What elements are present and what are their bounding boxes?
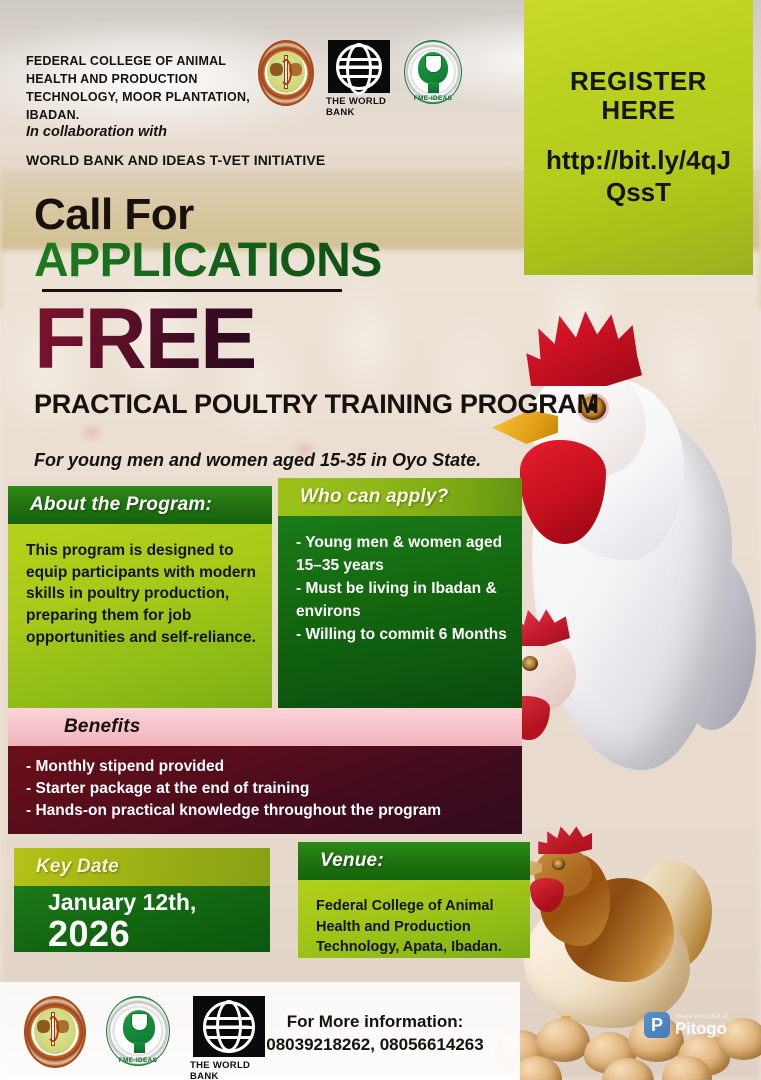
poster-canvas: REGISTER HERE http://bit.ly/4qJQssT FEDE… — [0, 0, 761, 1080]
egg — [536, 1018, 590, 1062]
contact-info: For More information: 08039218262, 08056… — [240, 1010, 510, 1056]
who-can-apply-body: - Young men & women aged 15–35 years - M… — [278, 516, 522, 712]
crest-inner — [267, 51, 305, 93]
organization-name: FEDERAL COLLEGE OF ANIMAL HEALTH AND PRO… — [26, 52, 266, 125]
crest-inner — [34, 1008, 76, 1054]
about-program-heading: About the Program: — [8, 486, 272, 524]
ideas-coat-of-arms — [425, 55, 442, 73]
rooster-comb-icon — [524, 308, 642, 386]
key-date-month-day: January 12th, — [48, 890, 256, 915]
list-item: - Starter package at the end of training — [26, 778, 508, 800]
fcahpt-crest-icon — [24, 996, 86, 1068]
fme-ideas-icon: FME-IDEAS — [106, 996, 170, 1066]
more-info-label: For More information: — [240, 1010, 510, 1033]
collaboration-label: In collaboration with — [26, 124, 326, 140]
world-bank-label: THE WORLD BANK — [326, 96, 392, 118]
pitogo-text: image uploaded at Pitogo — [675, 1014, 728, 1037]
header-logo-row: THE WORLD BANK FME-IDEAS — [258, 40, 462, 118]
hen-comb — [536, 824, 592, 854]
register-panel[interactable]: REGISTER HERE http://bit.ly/4qJQssT — [524, 0, 753, 275]
crest-serpent — [280, 59, 292, 85]
fme-ideas-icon: FME-IDEAS — [404, 40, 462, 104]
list-item: - Hands-on practical knowledge throughou… — [26, 800, 508, 822]
list-item: - Must be living in Ibadan & environs — [296, 578, 508, 624]
pitogo-watermark: P image uploaded at Pitogo — [644, 1012, 728, 1038]
about-program-card: About the Program: This program is desig… — [8, 486, 272, 718]
register-title: REGISTER HERE — [536, 67, 741, 125]
headline-free: FREE — [34, 296, 255, 382]
who-can-apply-heading: Who can apply? — [278, 478, 522, 516]
headline-applications: APPLICATIONS — [34, 233, 382, 288]
key-date-card: Key Date January 12th, 2026 — [14, 848, 270, 952]
globe-latitudes — [336, 44, 382, 90]
list-item: - Monthly stipend provided — [26, 756, 508, 778]
hen-eye — [552, 858, 565, 870]
benefits-heading: Benefits — [8, 708, 522, 746]
register-url-link[interactable]: http://bit.ly/4qJQssT — [536, 145, 741, 208]
headline-program-name: PRACTICAL POULTRY TRAINING PROGRAM — [34, 388, 599, 421]
partner-names: WORLD BANK AND IDEAS T-VET INITIATIVE — [26, 152, 426, 168]
benefits-body: - Monthly stipend provided - Starter pac… — [8, 746, 522, 834]
world-bank-box — [328, 40, 390, 93]
ideas-stem — [134, 1042, 145, 1053]
pitogo-logo-icon: P — [644, 1012, 670, 1038]
crest-serpent — [47, 1016, 59, 1042]
contact-phone-numbers: 08039218262, 08056614263 — [240, 1033, 510, 1056]
world-bank-icon: THE WORLD BANK — [326, 40, 392, 118]
fcahpt-crest-icon — [258, 40, 314, 106]
list-item: - Willing to commit 6 Months — [296, 624, 508, 647]
pitogo-brand: Pitogo — [675, 1020, 728, 1037]
key-date-heading: Key Date — [14, 848, 270, 886]
venue-card: Venue: Federal College of Animal Health … — [298, 842, 530, 958]
ideas-label: FME-IDEAS — [404, 95, 462, 102]
footer-logo-row: FME-IDEAS THE WORLD BANK — [24, 996, 268, 1080]
key-date-body: January 12th, 2026 — [14, 886, 270, 952]
venue-body: Federal College of Animal Health and Pro… — [298, 880, 530, 958]
list-item: - Young men & women aged 15–35 years — [296, 532, 508, 578]
about-program-body: This program is designed to equip partic… — [8, 524, 272, 718]
benefits-card: Benefits - Monthly stipend provided - St… — [8, 708, 522, 834]
ideas-stem — [428, 82, 439, 93]
second-chicken-eye — [522, 656, 538, 671]
venue-heading: Venue: — [298, 842, 530, 880]
world-bank-label: THE WORLD BANK — [190, 1060, 268, 1080]
headline-subline: For young men and women aged 15-35 in Oy… — [34, 450, 481, 471]
who-can-apply-card: Who can apply? - Young men & women aged … — [278, 478, 522, 712]
ideas-coat-of-arms — [131, 1013, 148, 1031]
key-date-year: 2026 — [48, 915, 256, 953]
ideas-label: FME-IDEAS — [106, 1057, 170, 1064]
